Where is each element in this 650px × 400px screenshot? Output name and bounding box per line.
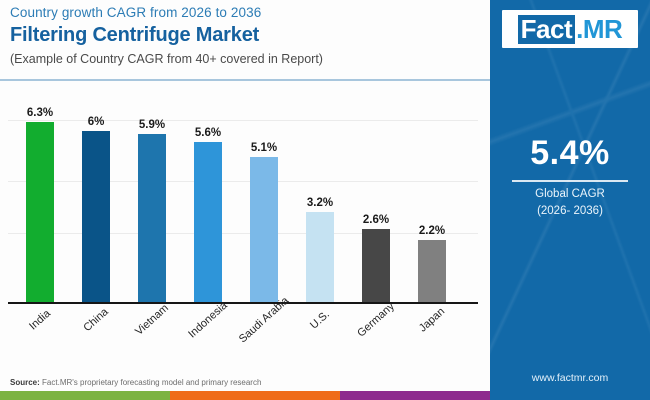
- source-label: Source:: [10, 378, 40, 387]
- chart-header: Country growth CAGR from 2026 to 2036 Fi…: [0, 0, 490, 80]
- bar-value-label: 2.6%: [348, 214, 404, 226]
- x-tick-label: U.S.: [308, 308, 332, 331]
- bar-chart-plot: 6.3%6%5.9%5.6%5.1%3.2%2.6%2.2%: [0, 88, 490, 310]
- x-tick-label: Germany: [355, 300, 397, 339]
- bar[interactable]: [418, 240, 446, 304]
- panel-divider: [512, 180, 628, 182]
- bar[interactable]: [306, 212, 334, 304]
- x-tick: Japan: [404, 306, 460, 368]
- x-tick: Vietnam: [124, 306, 180, 368]
- strip-segment: [170, 391, 340, 400]
- header-divider: [0, 79, 490, 81]
- page-title: Filtering Centrifuge Market: [10, 24, 259, 47]
- header-subtitle: (Example of Country CAGR from 40+ covere…: [10, 52, 323, 66]
- bar-group[interactable]: 2.6%: [348, 96, 404, 304]
- bar-value-label: 5.6%: [180, 127, 236, 139]
- x-tick-label: Vietnam: [133, 302, 171, 338]
- bar-group[interactable]: 6%: [68, 96, 124, 304]
- bar-value-label: 5.9%: [124, 119, 180, 131]
- bar[interactable]: [26, 122, 54, 304]
- bar-group[interactable]: 5.6%: [180, 96, 236, 304]
- bar-value-label: 2.2%: [404, 225, 460, 237]
- bar-value-label: 6.3%: [12, 107, 68, 119]
- bar-value-label: 6%: [68, 116, 124, 128]
- bar[interactable]: [138, 134, 166, 304]
- global-cagr-period: (2026- 2036): [490, 205, 650, 217]
- bar[interactable]: [250, 157, 278, 304]
- source-text: Fact.MR's proprietary forecasting model …: [42, 378, 261, 387]
- factmr-logo[interactable]: Fact .MR: [502, 10, 638, 48]
- bar-value-label: 3.2%: [292, 197, 348, 209]
- x-tick-label: China: [81, 306, 110, 334]
- bar-group[interactable]: 6.3%: [12, 96, 68, 304]
- bar-group[interactable]: 5.1%: [236, 96, 292, 304]
- x-axis-line: [8, 302, 478, 304]
- bar-group[interactable]: 5.9%: [124, 96, 180, 304]
- bar-group[interactable]: 2.2%: [404, 96, 460, 304]
- strip-segment: [340, 391, 490, 400]
- header-eyebrow: Country growth CAGR from 2026 to 2036: [10, 5, 261, 20]
- source-note: Source: Fact.MR's proprietary forecastin…: [10, 378, 261, 387]
- logo-fact-text: Fact: [518, 15, 575, 44]
- global-cagr-value: 5.4%: [490, 134, 650, 173]
- bar[interactable]: [194, 142, 222, 304]
- strip-segment: [0, 391, 170, 400]
- logo-mr-text: .MR: [575, 16, 622, 42]
- website-url[interactable]: www.factmr.com: [490, 372, 650, 384]
- bottom-color-strip: [0, 391, 490, 400]
- x-tick: India: [12, 306, 68, 368]
- brand-panel: Fact .MR 5.4% Global CAGR (2026- 2036) w…: [490, 0, 650, 400]
- bar[interactable]: [362, 229, 390, 304]
- x-tick-label: India: [27, 308, 53, 333]
- x-tick: Saudi Arabia: [236, 306, 292, 368]
- x-tick: U.S.: [292, 306, 348, 368]
- bar-group[interactable]: 3.2%: [292, 96, 348, 304]
- panel-texture: [490, 0, 650, 400]
- logo-inner: Fact .MR: [518, 15, 623, 44]
- infographic-chart-card: Country growth CAGR from 2026 to 2036 Fi…: [0, 0, 650, 400]
- x-axis-labels: IndiaChinaVietnamIndonesiaSaudi ArabiaU.…: [0, 306, 490, 368]
- global-cagr-label: Global CAGR: [490, 188, 650, 200]
- bar[interactable]: [82, 131, 110, 304]
- x-tick: Germany: [348, 306, 404, 368]
- x-tick-label: Indonesia: [186, 300, 229, 341]
- x-tick: China: [68, 306, 124, 368]
- x-tick-label: Japan: [417, 306, 447, 335]
- bar-value-label: 5.1%: [236, 142, 292, 154]
- x-tick: Indonesia: [180, 306, 236, 368]
- chart-region: Country growth CAGR from 2026 to 2036 Fi…: [0, 0, 490, 392]
